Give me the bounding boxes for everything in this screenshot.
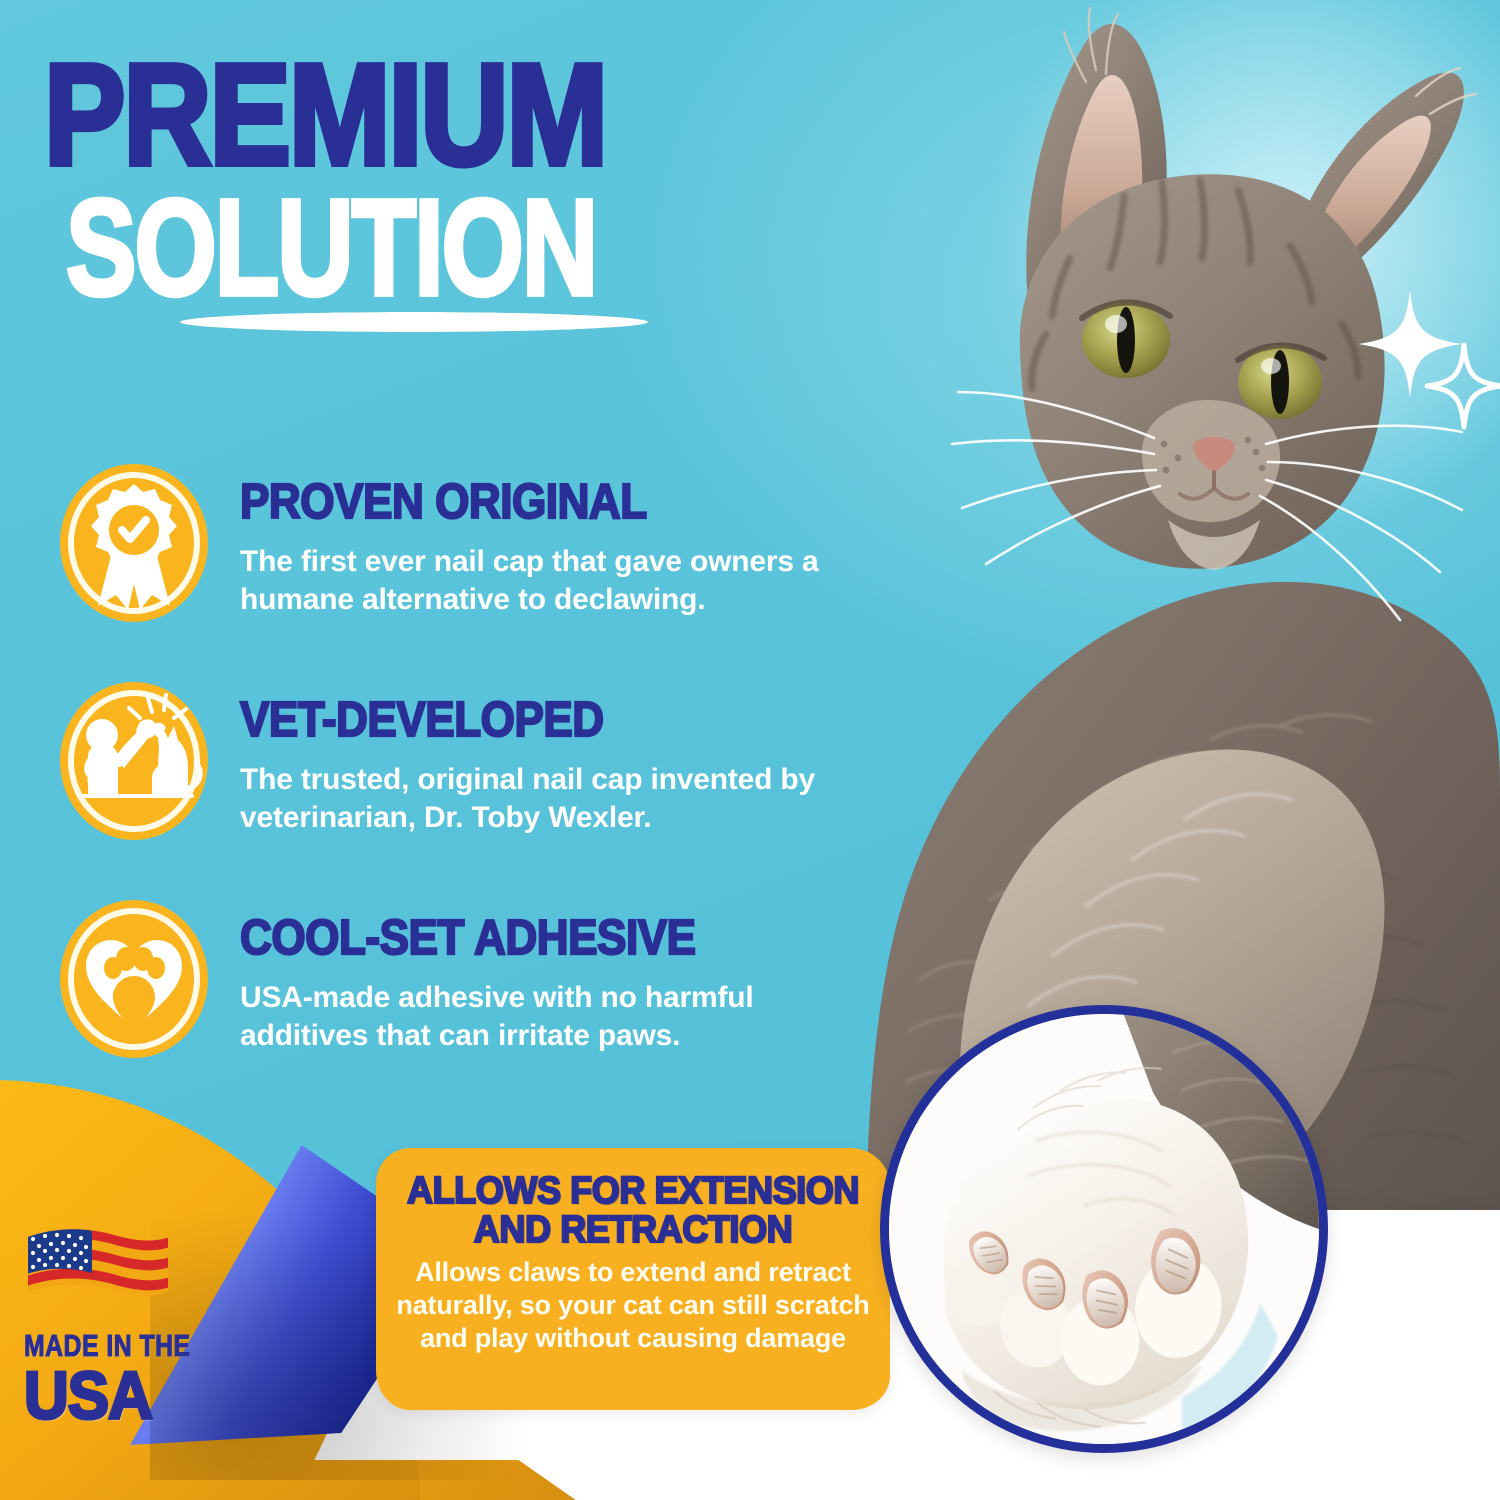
feature-list: PROVEN ORIGINAL The first ever nail cap …	[54, 460, 864, 1114]
vet-high-five-cat-icon	[54, 678, 214, 844]
headline-line-1: PREMIUM	[44, 52, 844, 179]
callout-description: Allows claws to extend and retract natur…	[394, 1256, 872, 1355]
made-in-usa-line-1: MADE IN THE	[24, 1331, 236, 1361]
callout-title-line-2: AND RETRACTION	[394, 1209, 872, 1248]
headline-block: PREMIUM SOLUTION	[44, 52, 844, 286]
usa-flag-icon	[24, 1225, 172, 1317]
feature-item-proven-original: PROVEN ORIGINAL The first ever nail cap …	[54, 460, 864, 626]
feature-item-vet-developed: VET-DEVELOPED The trusted, original nail…	[54, 678, 864, 844]
headline-line-2: SOLUTION	[66, 189, 813, 309]
feature-title: PROVEN ORIGINAL	[240, 476, 852, 526]
feature-title: VET-DEVELOPED	[240, 694, 852, 744]
product-feature-graphic: PREMIUM SOLUTION PROVEN OR	[0, 0, 1500, 1500]
feature-title: COOL-SET ADHESIVE	[240, 912, 852, 962]
made-in-usa-line-2: USA	[24, 1364, 254, 1431]
heart-paw-icon	[54, 896, 214, 1062]
made-in-usa-badge: MADE IN THE USA	[24, 1225, 254, 1428]
paw-closeup-inset	[880, 1005, 1328, 1453]
award-ribbon-check-icon	[54, 460, 214, 626]
feature-item-cool-set-adhesive: COOL-SET ADHESIVE USA-made adhesive with…	[54, 896, 864, 1062]
feature-description: USA-made adhesive with no harmful additi…	[240, 979, 850, 1055]
extension-retraction-callout: ALLOWS FOR EXTENSION AND RETRACTION Allo…	[376, 1148, 890, 1410]
swoosh-underline	[180, 312, 648, 332]
callout-title: ALLOWS FOR EXTENSION AND RETRACTION	[394, 1170, 872, 1249]
feature-description: The trusted, original nail cap invented …	[240, 761, 850, 837]
feature-description: The first ever nail cap that gave owners…	[240, 543, 850, 619]
sparkle-star-outline-icon	[1424, 342, 1500, 430]
callout-title-line-1: ALLOWS FOR EXTENSION	[394, 1170, 872, 1209]
